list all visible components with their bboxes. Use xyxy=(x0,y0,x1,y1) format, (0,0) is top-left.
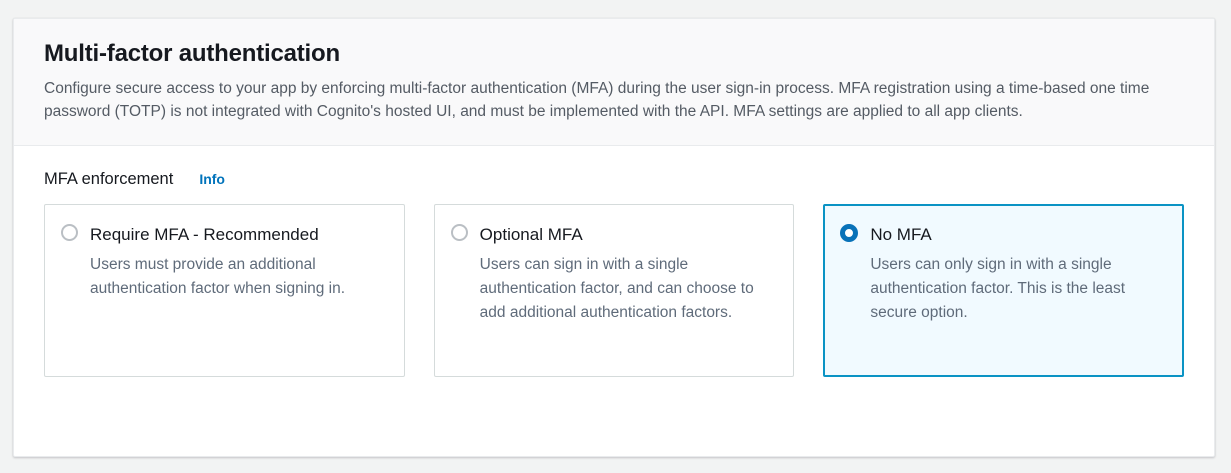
panel-body: MFA enforcement Info Require MFA - Recom… xyxy=(14,146,1214,377)
panel-header: Multi-factor authentication Configure se… xyxy=(14,19,1214,146)
mfa-settings-panel: Multi-factor authentication Configure se… xyxy=(13,18,1215,457)
info-link[interactable]: Info xyxy=(199,171,225,187)
radio-button-icon[interactable] xyxy=(451,224,468,241)
radio-tile-content: Optional MFA Users can sign in with a si… xyxy=(480,219,778,325)
page-title: Multi-factor authentication xyxy=(44,39,1184,69)
mfa-enforcement-radio-group: Require MFA - Recommended Users must pro… xyxy=(44,204,1184,377)
mfa-enforcement-label-row: MFA enforcement Info xyxy=(44,168,1184,190)
radio-button-selected-icon[interactable] xyxy=(840,224,858,242)
radio-tile-content: No MFA Users can only sign in with a sin… xyxy=(870,219,1167,325)
radio-tile-no-mfa[interactable]: No MFA Users can only sign in with a sin… xyxy=(823,204,1184,377)
radio-tile-title: Require MFA - Recommended xyxy=(90,219,388,251)
panel-description: Configure secure access to your app by e… xyxy=(44,77,1184,123)
radio-tile-description: Users can sign in with a single authenti… xyxy=(480,253,778,325)
radio-tile-description: Users can only sign in with a single aut… xyxy=(870,253,1167,325)
radio-tile-optional-mfa[interactable]: Optional MFA Users can sign in with a si… xyxy=(434,204,795,377)
radio-button-icon[interactable] xyxy=(61,224,78,241)
radio-tile-title: No MFA xyxy=(870,219,1167,251)
radio-tile-require-mfa[interactable]: Require MFA - Recommended Users must pro… xyxy=(44,204,405,377)
radio-tile-content: Require MFA - Recommended Users must pro… xyxy=(90,219,388,301)
radio-tile-description: Users must provide an additional authent… xyxy=(90,253,388,301)
radio-tile-title: Optional MFA xyxy=(480,219,778,251)
mfa-enforcement-label: MFA enforcement xyxy=(44,168,173,190)
